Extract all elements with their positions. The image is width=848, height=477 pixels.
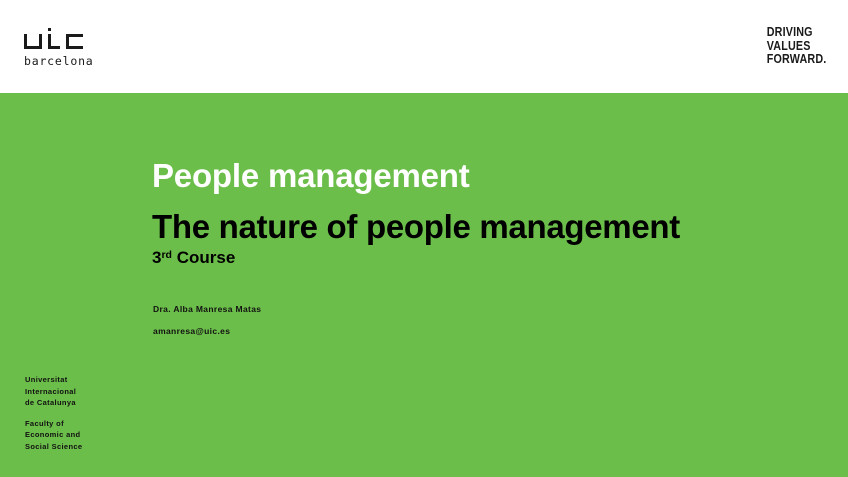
- author-email[interactable]: amanresa@uic.es: [153, 320, 261, 342]
- presentation-slide: barcelona DRIVING VALUES FORWARD. People…: [0, 0, 848, 477]
- institution-line-3: de Catalunya: [25, 397, 82, 409]
- uic-logo-icon: [24, 27, 94, 53]
- course-title: People management: [152, 157, 812, 195]
- faculty-line-1: Faculty of: [25, 418, 82, 430]
- slide-header: barcelona DRIVING VALUES FORWARD.: [0, 0, 848, 93]
- logo-wordmark-barcelona: barcelona: [24, 56, 174, 68]
- institution-line-1: Universitat: [25, 374, 82, 386]
- course-ordinal-suffix: rd: [161, 249, 172, 261]
- institution-line-2: Internacional: [25, 386, 82, 398]
- course-level: 3rd Course: [152, 248, 812, 270]
- slide-body: People management The nature of people m…: [0, 93, 848, 477]
- faculty-line-3: Social Science: [25, 441, 82, 453]
- faculty-name: Faculty of Economic and Social Science: [25, 418, 82, 453]
- title-block: People management The nature of people m…: [152, 157, 812, 270]
- faculty-line-2: Economic and: [25, 429, 82, 441]
- author-block: Dra. Alba Manresa Matas amanresa@uic.es: [153, 298, 261, 342]
- tagline-line-1: DRIVING: [766, 26, 826, 40]
- footer-block: Universitat Internacional de Catalunya F…: [25, 374, 82, 452]
- author-name: Dra. Alba Manresa Matas: [153, 298, 261, 320]
- institution-name: Universitat Internacional de Catalunya: [25, 374, 82, 409]
- tagline-line-2: VALUES: [766, 40, 826, 54]
- uic-barcelona-logo: barcelona: [24, 27, 174, 72]
- slide-subtitle: The nature of people management: [152, 208, 812, 246]
- brand-tagline: DRIVING VALUES FORWARD.: [766, 26, 826, 67]
- tagline-line-3: FORWARD.: [766, 53, 826, 67]
- course-word: Course: [177, 248, 236, 267]
